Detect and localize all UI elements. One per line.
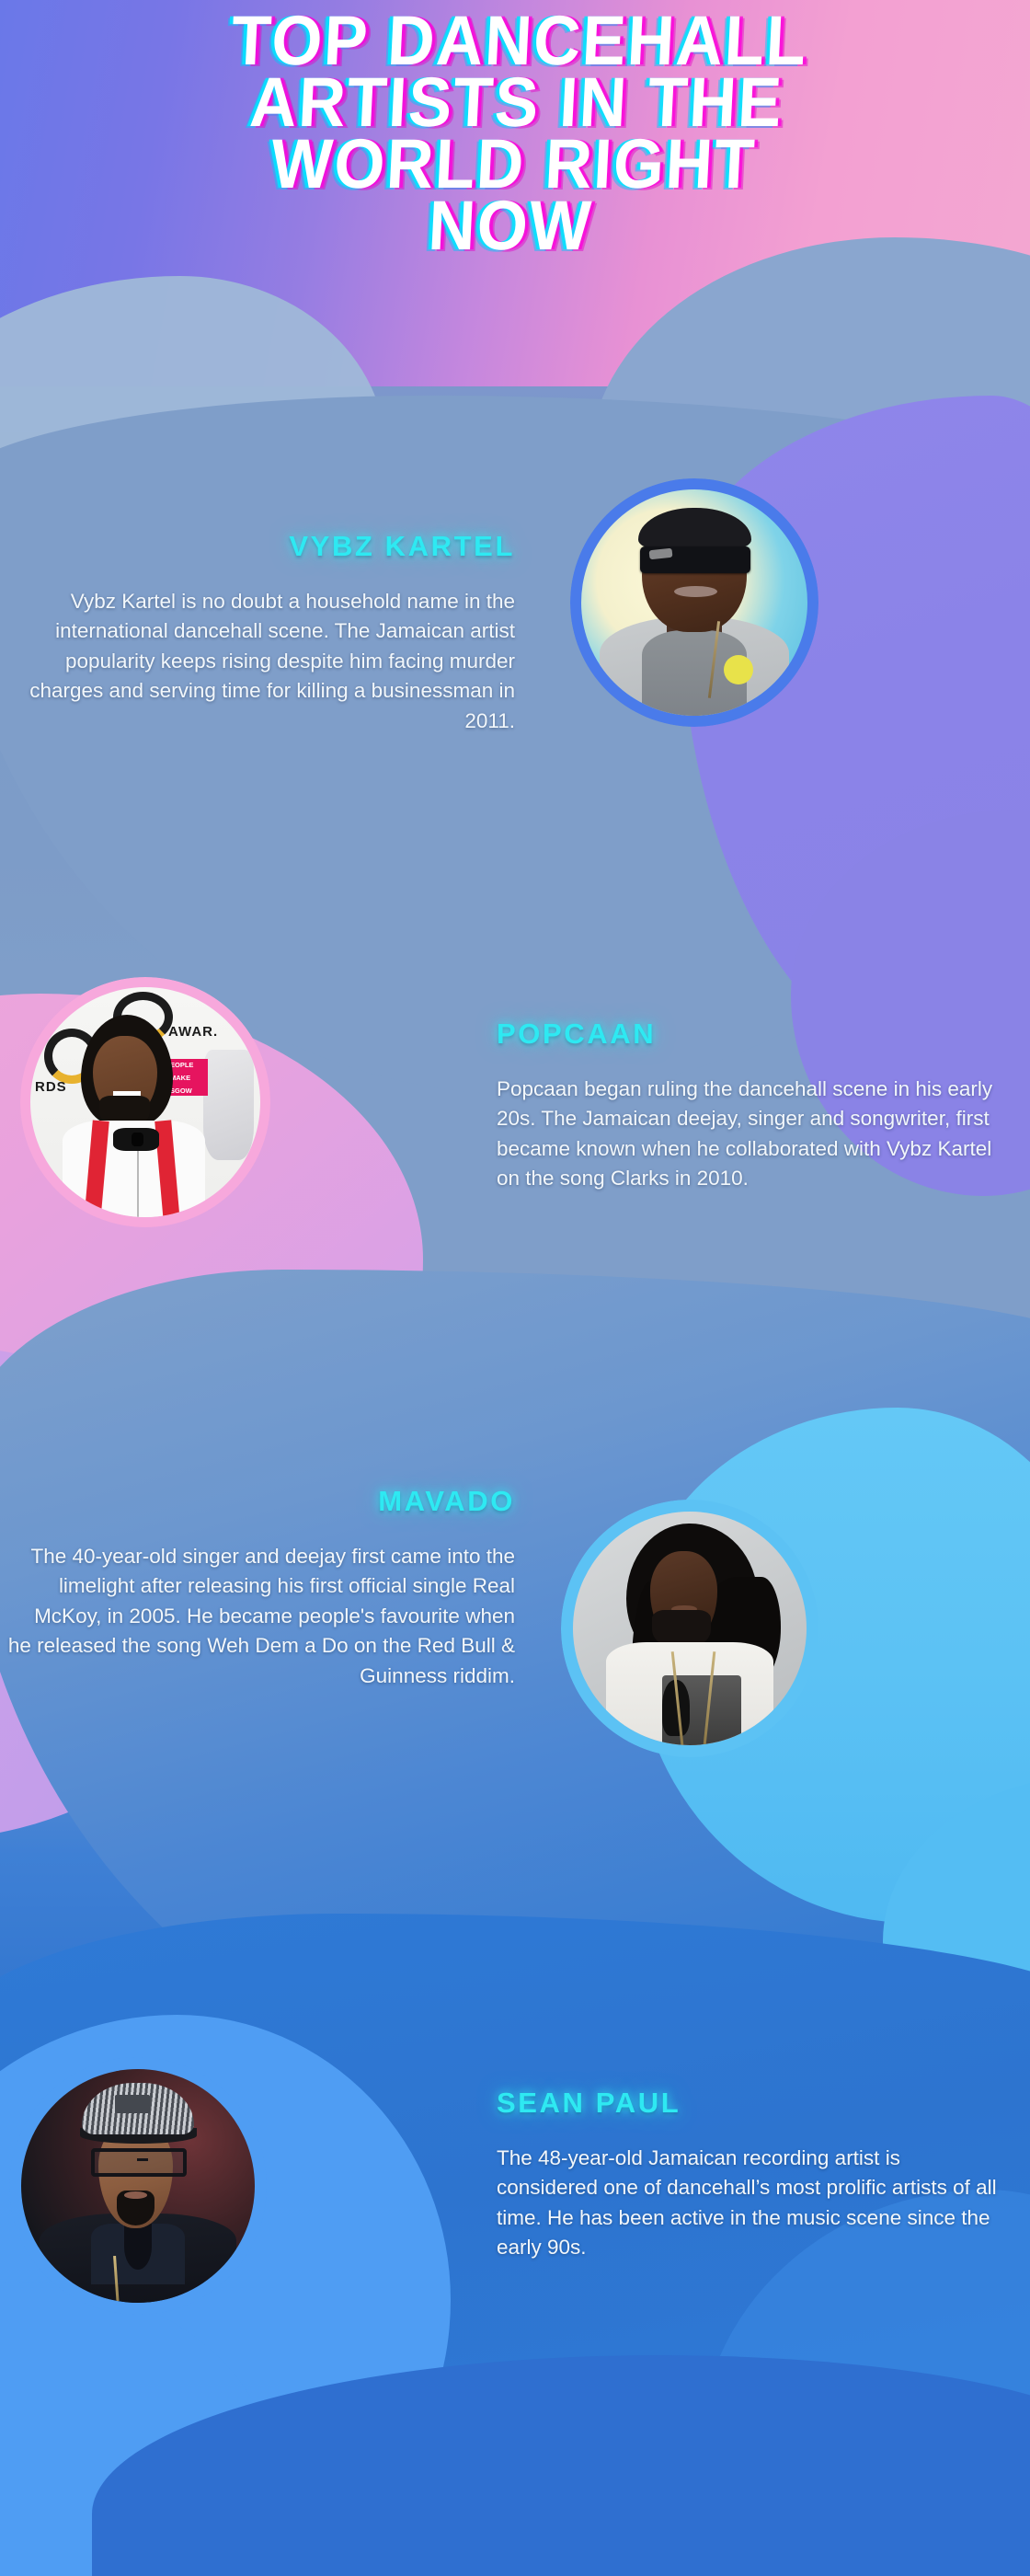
sean-paul-portrait-art: [21, 2069, 255, 2303]
sean-paul-photo[interactable]: [9, 2057, 267, 2315]
infographic-page: TOP DANCEHALL ARTISTS IN THE WORLD RIGHT…: [0, 0, 1030, 2576]
mavado-photo[interactable]: [561, 1500, 818, 1757]
artist-bio-mavado: The 40-year-old singer and deejay first …: [0, 1542, 515, 1691]
artist-section-mavado: MAVADO The 40-year-old singer and deejay…: [0, 1485, 515, 1691]
artist-name-sean-paul: SEAN PAUL: [497, 2087, 1012, 2120]
page-title-wrapper: TOP DANCEHALL ARTISTS IN THE WORLD RIGHT…: [0, 11, 1030, 258]
page-title: TOP DANCEHALL ARTISTS IN THE WORLD RIGHT…: [30, 11, 1001, 258]
photo-inner-mavado: [573, 1512, 807, 1745]
popcaan-photo-rds-text: RDS: [35, 1079, 67, 1095]
vybz-kartel-photo[interactable]: [570, 478, 818, 727]
artist-section-sean-paul: SEAN PAUL The 48-year-old Jamaican recor…: [497, 2087, 1012, 2263]
artist-section-popcaan: POPCAAN Popcaan began ruling the danceha…: [497, 1018, 1012, 1194]
badge-line-3: SGOW: [168, 1085, 208, 1098]
popcaan-photo[interactable]: RDS AWAR. EOPLE MAKE SGOW: [20, 977, 270, 1227]
artist-name-popcaan: POPCAAN: [497, 1018, 1012, 1051]
badge-line-1: EOPLE: [168, 1059, 208, 1072]
mavado-portrait-art: [573, 1512, 807, 1745]
photo-inner-sean-paul: [21, 2069, 255, 2303]
artist-name-vybz-kartel: VYBZ KARTEL: [0, 530, 515, 563]
artist-bio-vybz-kartel: Vybz Kartel is no doubt a household name…: [0, 587, 515, 736]
vybz-kartel-portrait-art: [581, 489, 807, 716]
badge-line-2: MAKE: [168, 1072, 208, 1085]
popcaan-portrait-art: RDS AWAR. EOPLE MAKE SGOW: [30, 987, 260, 1217]
artist-bio-sean-paul: The 48-year-old Jamaican recording artis…: [497, 2144, 1012, 2263]
artist-section-vybz-kartel: VYBZ KARTEL Vybz Kartel is no doubt a ho…: [0, 530, 515, 736]
artist-name-mavado: MAVADO: [0, 1485, 515, 1518]
popcaan-photo-badge: EOPLE MAKE SGOW: [168, 1059, 208, 1096]
artist-bio-popcaan: Popcaan began ruling the dancehall scene…: [497, 1075, 1012, 1194]
photo-inner-popcaan: RDS AWAR. EOPLE MAKE SGOW: [30, 987, 260, 1217]
popcaan-photo-awards-text: AWAR.: [168, 1024, 218, 1040]
photo-inner-vybz-kartel: [581, 489, 807, 716]
